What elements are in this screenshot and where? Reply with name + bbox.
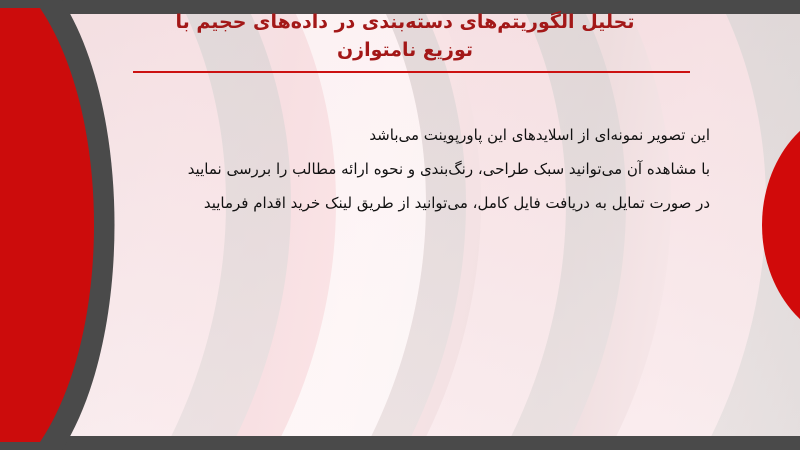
slide-body: این تصویر نمونه‌ای از اسلایدهای این پاور… (150, 118, 710, 220)
background-bands (0, 12, 800, 438)
slide-title-line-1: تحلیل الگوریتم‌های دسته‌بندی در داده‌های… (100, 8, 710, 36)
slide-background-panel (0, 12, 800, 438)
slide-title: تحلیل الگوریتم‌های دسته‌بندی در داده‌های… (100, 8, 710, 64)
presentation-slide: تحلیل الگوریتم‌های دسته‌بندی در داده‌های… (0, 0, 800, 450)
body-line-1: این تصویر نمونه‌ای از اسلایدهای این پاور… (150, 118, 710, 152)
frame-bar-bottom (0, 436, 800, 450)
body-line-3: در صورت تمایل به دریافت فایل کامل، می‌تو… (150, 186, 710, 220)
slide-title-line-2: توزیع نامتوازن (100, 36, 710, 64)
title-underline (133, 71, 690, 73)
body-line-2: با مشاهده آن می‌توانید سبک طراحی، رنگ‌بن… (150, 152, 710, 186)
